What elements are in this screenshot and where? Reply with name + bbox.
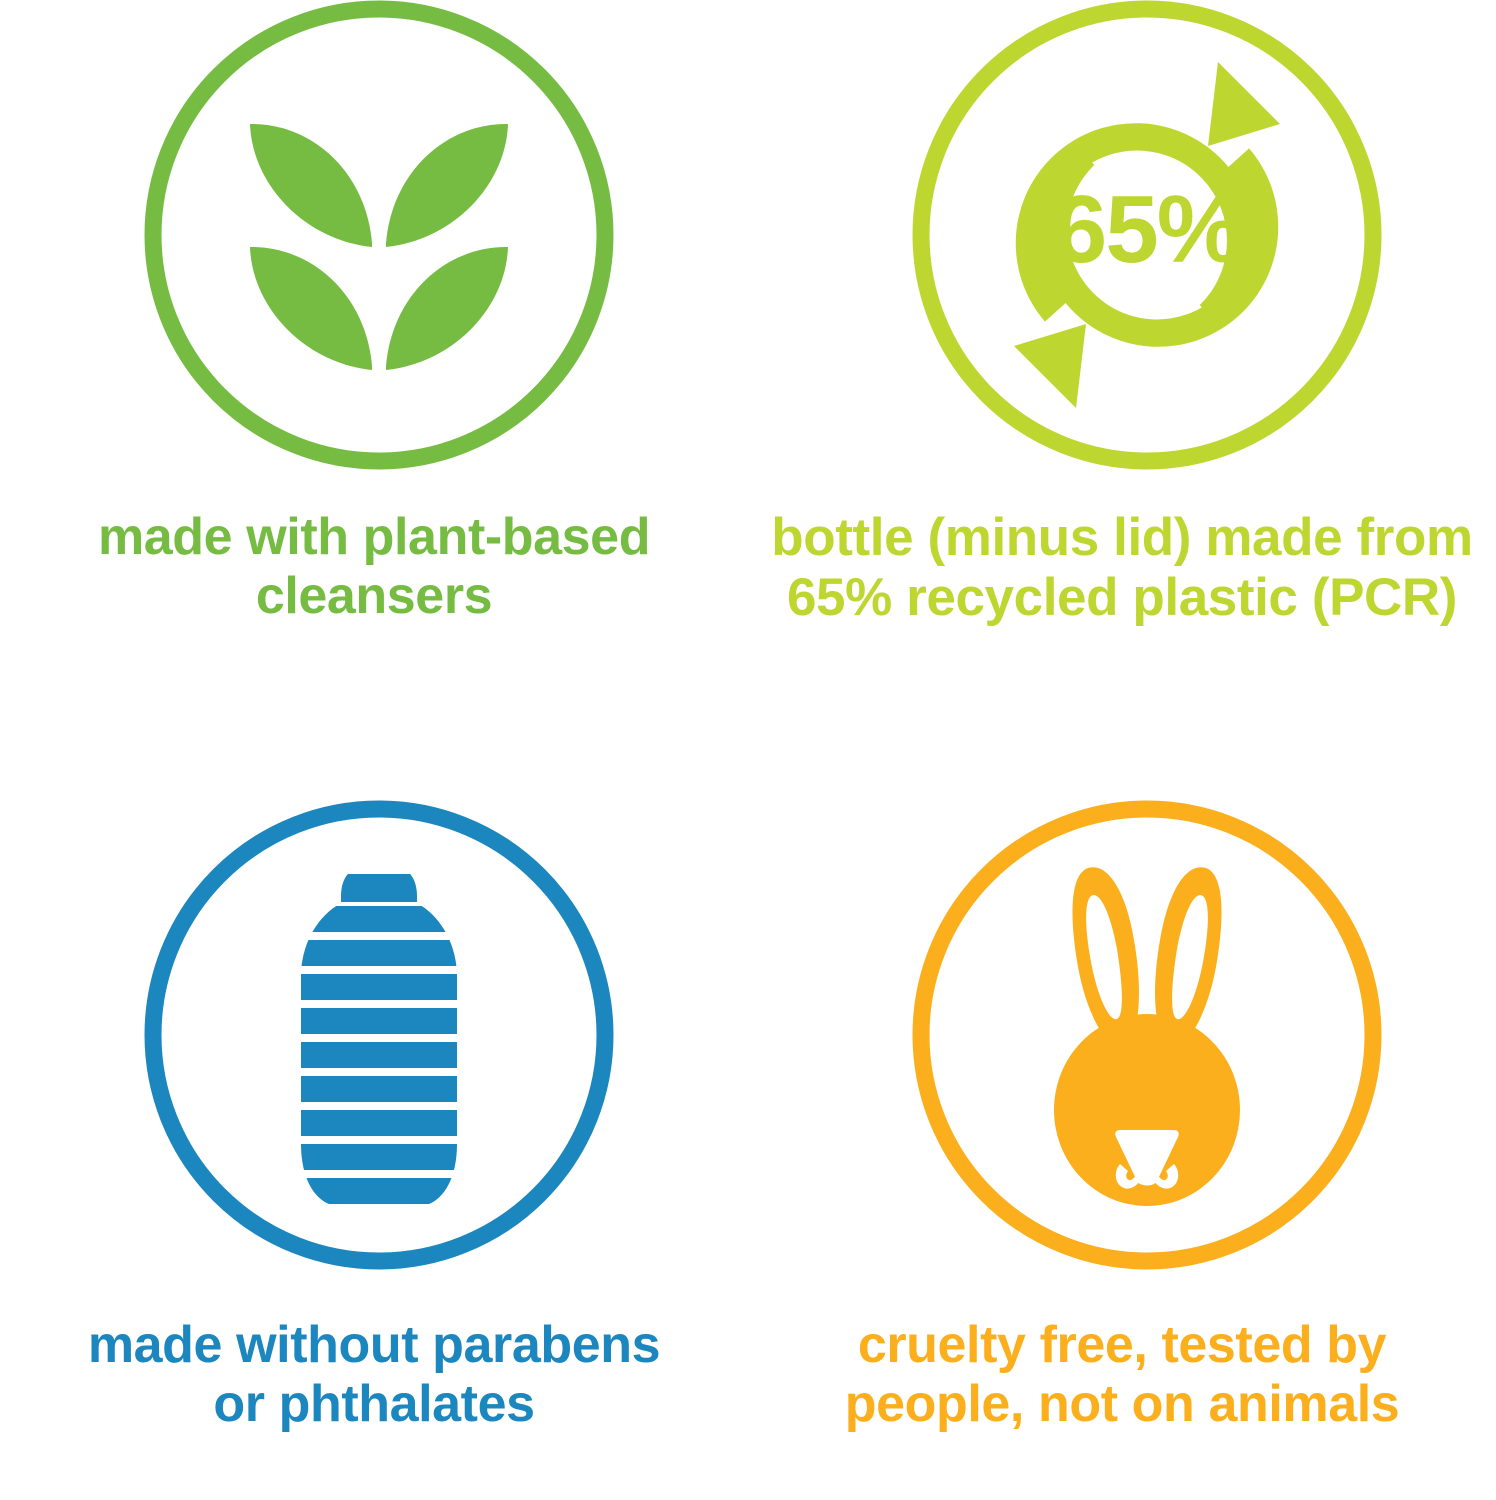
badge-caption-cruelty-free: cruelty free, tested by people, not on a… <box>748 1316 1496 1435</box>
badge-grid: made with plant-based cleansers <box>0 0 1496 1500</box>
plant-sprout-icon <box>144 0 614 470</box>
badge-caption-recycled-plastic: bottle (minus lid) made from 65% recycle… <box>748 508 1496 629</box>
badge-caption-no-parabens: made without parabens or phthalates <box>14 1316 734 1435</box>
striped-bottle-icon <box>144 800 614 1270</box>
badge-no-parabens: made without parabens or phthalates <box>0 790 748 1500</box>
badge-cruelty-free: cruelty free, tested by people, not on a… <box>748 790 1496 1500</box>
badge-plant-based: made with plant-based cleansers <box>0 0 748 790</box>
bunny-head-icon <box>912 800 1382 1270</box>
badge-recycled-plastic: 65% bottle (minus lid) made from 65% rec… <box>748 0 1496 790</box>
recycle-arrows-icon: 65% <box>912 0 1382 470</box>
badge-caption-plant-based: made with plant-based cleansers <box>14 508 734 627</box>
recycle-percent-text: 65% <box>1054 176 1240 283</box>
